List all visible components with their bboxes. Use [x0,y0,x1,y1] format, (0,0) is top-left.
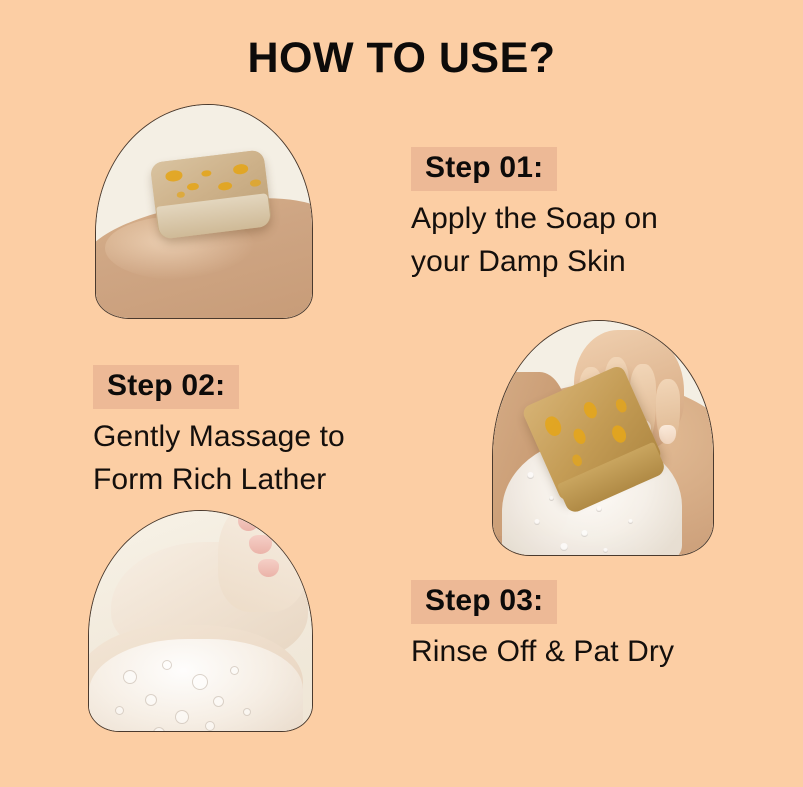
step-03-label: Step 03: [411,580,557,624]
foam-lather [89,639,303,732]
photo-soap-on-shoulder [492,320,714,556]
step-03-block: Step 03: Rinse Off & Pat Dry [411,580,751,674]
page-title: HOW TO USE? [0,34,803,83]
step-01-block: Step 01: Apply the Soap on your Damp Ski… [411,147,741,283]
soap-bar-icon [150,149,273,239]
step-02-label: Step 02: [93,365,239,409]
fingers [218,510,307,612]
step-01-description: Apply the Soap on your Damp Skin [411,198,741,283]
photo-hands-lather [88,510,313,732]
step-01-label: Step 01: [411,147,557,191]
step-03-description: Rinse Off & Pat Dry [411,631,751,674]
step-02-description: Gently Massage to Form Rich Lather [93,416,438,501]
step-02-block: Step 02: Gently Massage to Form Rich Lat… [93,365,438,501]
photo-soap-on-skin [95,104,313,319]
photo-hands-lather-content [89,511,312,731]
photo-soap-on-shoulder-content [493,321,713,555]
photo-soap-on-skin-content [96,105,312,318]
